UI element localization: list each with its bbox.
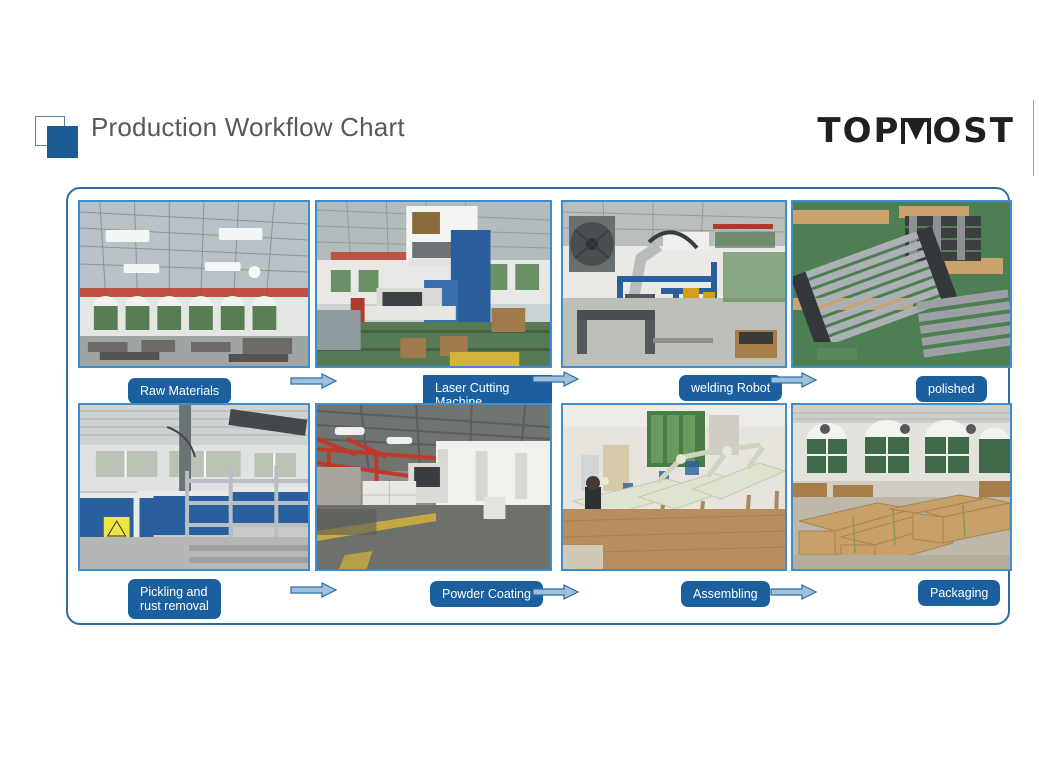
- next-step-arrow-icon: [770, 583, 818, 601]
- brand-m-right-stroke: [927, 118, 931, 144]
- workflow-step-powder-coating[interactable]: Powder Coating: [315, 400, 552, 606]
- step-label-assembling[interactable]: Assembling: [681, 581, 770, 607]
- logo-square-solid: [47, 126, 78, 158]
- brand-wordmark: TOP OST: [817, 114, 1015, 148]
- photo-laser-cutting-machine: [315, 200, 552, 368]
- workflow-step-assembling[interactable]: Assembling: [561, 400, 787, 606]
- brand-text-before-m: TOP: [817, 114, 900, 148]
- photo-powder-coating-line: [315, 403, 552, 571]
- photo-warehouse-raw-materials: [78, 200, 310, 368]
- step-label-packaging[interactable]: Packaging: [918, 580, 1000, 606]
- brand-m-triangle: [907, 121, 925, 140]
- step-label-polished[interactable]: polished: [916, 376, 987, 402]
- nested-squares-logo-icon: [35, 116, 79, 160]
- workflow-step-polished[interactable]: polished: [791, 197, 1012, 403]
- workflow-row-2: Pickling and rust removal: [68, 400, 1012, 606]
- workflow-step-raw-materials[interactable]: Raw Materials: [78, 197, 310, 403]
- workflow-container: Raw Materials: [66, 187, 1010, 625]
- next-step-arrow-icon: [532, 370, 580, 388]
- next-step-arrow-icon: [290, 581, 338, 599]
- photo-welding-robot: [561, 200, 787, 368]
- photo-assembling-workshop: [561, 403, 787, 571]
- step-label-pickling[interactable]: Pickling and rust removal: [128, 579, 221, 619]
- step-label-powder-coating[interactable]: Powder Coating: [430, 581, 543, 607]
- workflow-step-welding-robot[interactable]: welding Robot: [561, 197, 787, 403]
- workflow-step-laser-cutting[interactable]: Laser Cutting Machine: [315, 197, 552, 403]
- next-step-arrow-icon: [290, 372, 338, 390]
- workflow-step-packaging[interactable]: Packaging: [791, 400, 1012, 606]
- photo-pickling-rust-removal-tanks: [78, 403, 310, 571]
- next-step-arrow-icon: [770, 371, 818, 389]
- next-step-arrow-icon: [532, 583, 580, 601]
- brand-m-glyph-icon: [901, 118, 931, 144]
- brand-text-after-m: OST: [932, 114, 1015, 148]
- brand-logo: TOP OST: [817, 108, 1015, 154]
- page-title: Production Workflow Chart: [91, 112, 405, 143]
- workflow-step-pickling[interactable]: Pickling and rust removal: [78, 400, 310, 606]
- header-divider: [1033, 100, 1034, 176]
- photo-polished-parts: [791, 200, 1012, 368]
- slide-header: Production Workflow Chart TOP OST: [0, 96, 1060, 176]
- slide: Production Workflow Chart TOP OST: [0, 0, 1060, 762]
- photo-packaging-boxes: [791, 403, 1012, 571]
- step-label-welding-robot[interactable]: welding Robot: [679, 375, 782, 401]
